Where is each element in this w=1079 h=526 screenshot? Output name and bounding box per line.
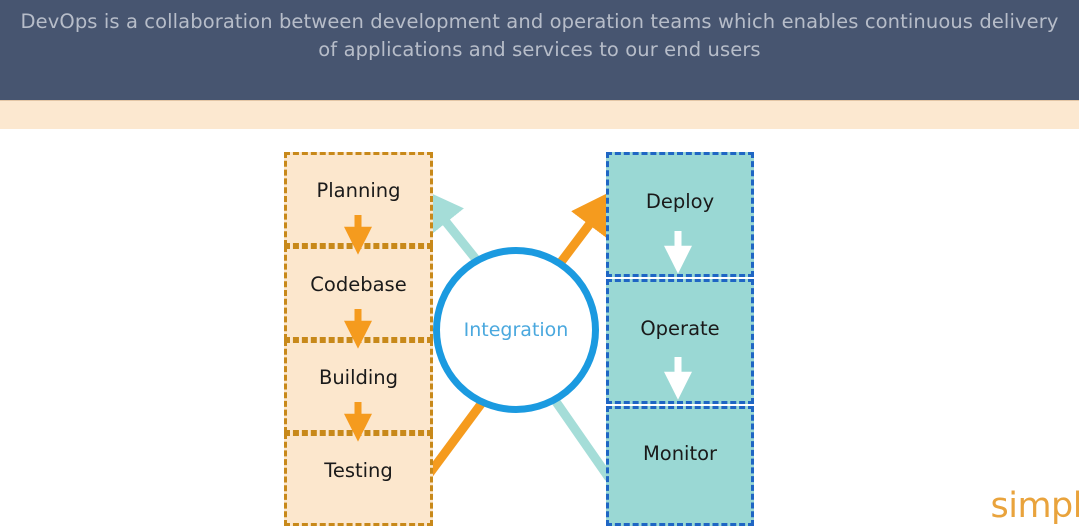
simplilearn-logo: simpl (991, 489, 1079, 524)
stage-box-codebase[interactable]: Codebase (284, 246, 433, 340)
stage-box-testing[interactable]: Testing (284, 433, 433, 526)
connector-testing-to-integration (424, 396, 487, 481)
stage-box-monitor[interactable]: Monitor (606, 406, 754, 526)
stage-label-operate: Operate (640, 317, 719, 340)
stage-label-building: Building (319, 366, 398, 389)
stage-label-monitor: Monitor (643, 442, 717, 465)
stage-label-deploy: Deploy (646, 190, 714, 213)
stage-label-planning: Planning (317, 179, 401, 202)
connector-monitor-to-integration (552, 396, 609, 478)
stage-box-planning[interactable]: Planning (284, 152, 433, 246)
stage-box-operate[interactable]: Operate (606, 279, 754, 404)
integration-label: Integration (464, 319, 569, 341)
integration-circle[interactable]: Integration (433, 247, 599, 413)
stage-label-testing: Testing (324, 459, 393, 482)
stage-box-deploy[interactable]: Deploy (606, 152, 754, 277)
devops-lifecycle-diagram: Planning Codebase Building Testing Deplo… (0, 0, 1079, 526)
stage-label-codebase: Codebase (310, 273, 406, 296)
stage-box-building[interactable]: Building (284, 340, 433, 433)
